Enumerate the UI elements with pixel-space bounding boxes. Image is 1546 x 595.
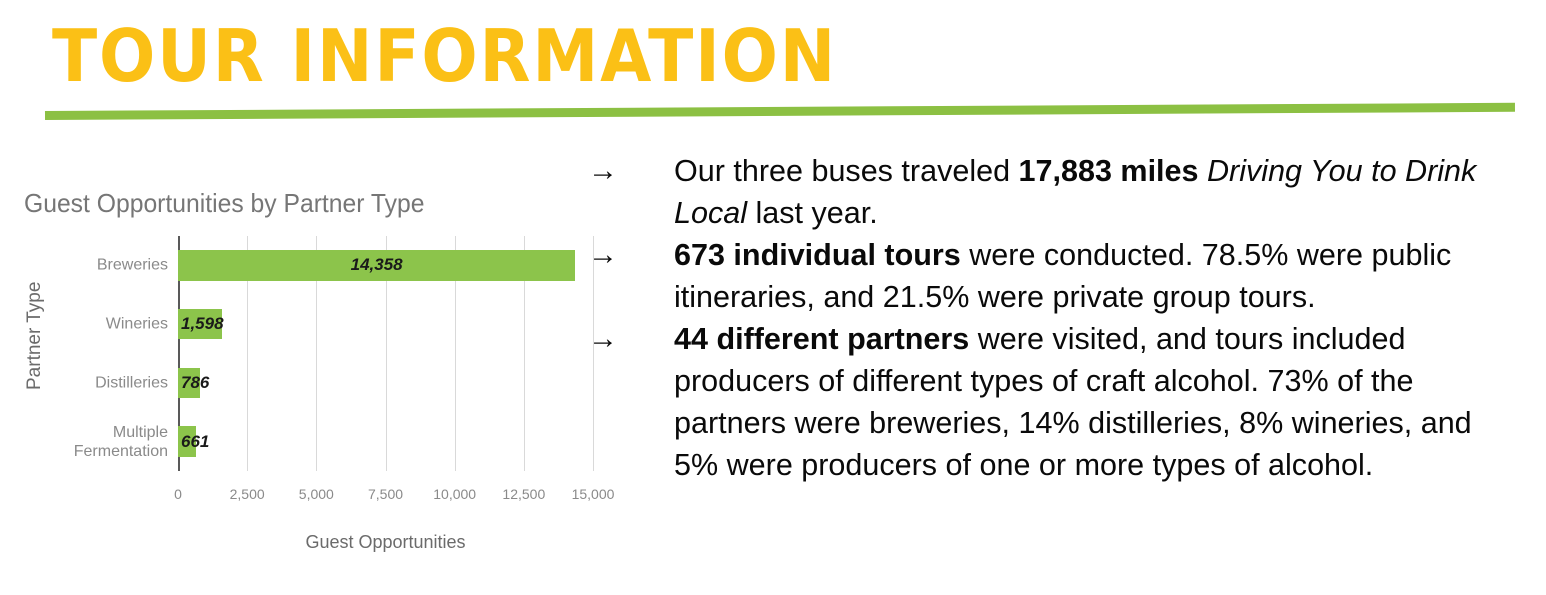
chart-title: Guest Opportunities by Partner Type [24, 188, 424, 219]
chart-panel: Guest Opportunities by Partner Type Part… [0, 150, 620, 580]
chart-bar-row: Distilleries786 [178, 368, 593, 399]
arrow-right-icon: → [588, 234, 674, 276]
chart-x-tick-label: 0 [174, 486, 182, 502]
bullet-item: →Our three buses traveled 17,883 miles D… [588, 150, 1518, 234]
chart-x-tick-label: 10,000 [433, 486, 476, 502]
chart-bar-value-label: 14,358 [351, 255, 403, 275]
page-title: TOUR INFORMATION [52, 16, 837, 96]
arrow-right-icon: → [588, 318, 674, 360]
chart-category-label: Wineries [8, 315, 168, 334]
chart-bar-row: Multiple Fermentation661 [178, 426, 593, 457]
bullet-item: →673 individual tours were conducted. 78… [588, 234, 1518, 318]
chart-plot-area: Breweries14,358Wineries1,598Distilleries… [178, 236, 593, 471]
chart-bar-row: Breweries14,358 [178, 250, 593, 281]
chart-x-tick-label: 2,500 [230, 486, 265, 502]
chart-category-label: Distilleries [8, 373, 168, 392]
chart-bar-row: Wineries1,598 [178, 309, 593, 340]
title-underline-rule [45, 103, 1515, 120]
chart-bar-value-label: 1,598 [181, 314, 224, 334]
chart-x-tick-label: 15,000 [572, 486, 615, 502]
bullet-item: →44 different partners were visited, and… [588, 318, 1518, 486]
bullet-text: Our three buses traveled 17,883 miles Dr… [674, 150, 1505, 234]
chart-bar-value-label: 786 [181, 373, 209, 393]
bullet-text: 673 individual tours were conducted. 78.… [674, 234, 1505, 318]
chart-x-tick-label: 5,000 [299, 486, 334, 502]
chart-x-axis-title: Guest Opportunities [178, 532, 593, 553]
arrow-right-icon: → [588, 150, 674, 192]
chart-bar-value-label: 661 [181, 432, 209, 452]
bullet-text: 44 different partners were visited, and … [674, 318, 1505, 486]
chart-x-tick-label: 12,500 [502, 486, 545, 502]
chart-category-label: Breweries [8, 256, 168, 275]
bullet-list: →Our three buses traveled 17,883 miles D… [588, 150, 1518, 486]
chart-category-label: Multiple Fermentation [8, 423, 168, 461]
chart-x-tick-label: 7,500 [368, 486, 403, 502]
